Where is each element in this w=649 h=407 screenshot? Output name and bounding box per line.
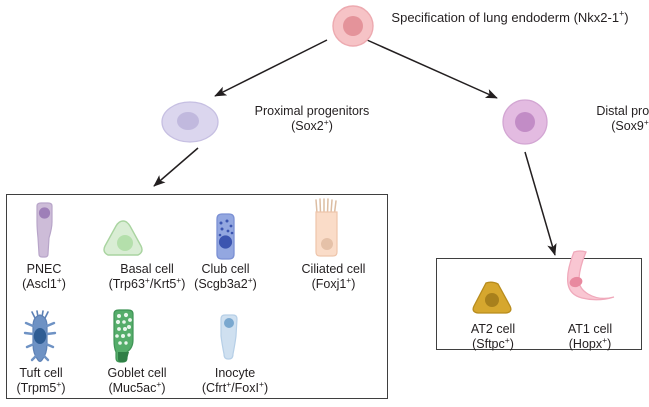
proximal-progenitors-label: Proximal progenitors (Sox2+) <box>222 104 402 134</box>
ciliated-cell-label: Ciliated cell (Foxj1+) <box>281 262 386 292</box>
tuft-cell-label-line1: Tuft cell <box>0 366 82 381</box>
arrow-root-to-proximal <box>215 40 327 96</box>
club-cell-label: Club cell (Scgb3a2+) <box>178 262 273 292</box>
at1-cell-label-line1: AT1 cell <box>545 322 635 337</box>
at1-cell-marker: (Hopx+) <box>545 337 635 352</box>
ciliated-cell-label-line1: Ciliated cell <box>281 262 386 277</box>
inocyte-marker: (Cfrt+/FoxI+) <box>180 381 290 396</box>
lineage-diagram: Specification of lung endoderm (Nkx2-1+)… <box>0 0 649 407</box>
tuft-cell-label: Tuft cell (Trpm5+) <box>0 366 82 396</box>
club-cell-icon <box>208 212 242 262</box>
lung-endoderm-label: Specification of lung endoderm (Nkx2-1+) <box>390 10 630 26</box>
club-cell-label-line1: Club cell <box>178 262 273 277</box>
proximal-progenitors-label-line1: Proximal progenitors <box>222 104 402 119</box>
ciliated-cell-icon <box>309 198 345 260</box>
inocyte-label-line1: Inocyte <box>180 366 290 381</box>
pnec-label-line1: PNEC <box>0 262 88 277</box>
distal-progenitors-label: Distal progenitors (Sox9+/Id2+) <box>550 104 649 134</box>
arrow-root-to-distal <box>367 40 497 98</box>
club-cell-marker: (Scgb3a2+) <box>178 277 273 292</box>
tuft-cell-marker: (Trpm5+) <box>0 381 82 396</box>
arrow-proximal-to-box <box>154 148 198 186</box>
distal-progenitors-cell-icon <box>499 96 551 148</box>
pnec-label: PNEC (Ascl1+) <box>0 262 88 292</box>
pnec-marker: (Ascl1+) <box>0 277 88 292</box>
tuft-cell-icon <box>22 310 58 364</box>
proximal-progenitors-marker: (Sox2+) <box>222 119 402 134</box>
at2-cell-icon <box>468 280 516 318</box>
ciliated-cell-marker: (Foxj1+) <box>281 277 386 292</box>
at2-cell-label: AT2 cell (Sftpc+) <box>451 322 535 352</box>
at2-cell-marker: (Sftpc+) <box>451 337 535 352</box>
lung-endoderm-marker: (Nkx2-1+) <box>574 10 629 25</box>
at1-cell-icon <box>552 250 618 320</box>
arrow-distal-to-box <box>525 152 555 255</box>
lung-endoderm-cell-icon <box>328 2 378 50</box>
lung-endoderm-label-line1: Specification of lung endoderm <box>391 10 570 25</box>
basal-cell-icon <box>100 218 146 260</box>
at2-cell-label-line1: AT2 cell <box>451 322 535 337</box>
inocyte-cell-icon <box>212 314 244 364</box>
pnec-cell-icon <box>26 202 60 260</box>
proximal-progenitors-cell-icon <box>160 97 220 147</box>
distal-progenitors-label-line1: Distal progenitors <box>550 104 649 119</box>
at1-cell-label: AT1 cell (Hopx+) <box>545 322 635 352</box>
goblet-cell-icon <box>105 308 141 366</box>
distal-progenitors-marker: (Sox9+/Id2+) <box>550 119 649 134</box>
inocyte-label: Inocyte (Cfrt+/FoxI+) <box>180 366 290 396</box>
